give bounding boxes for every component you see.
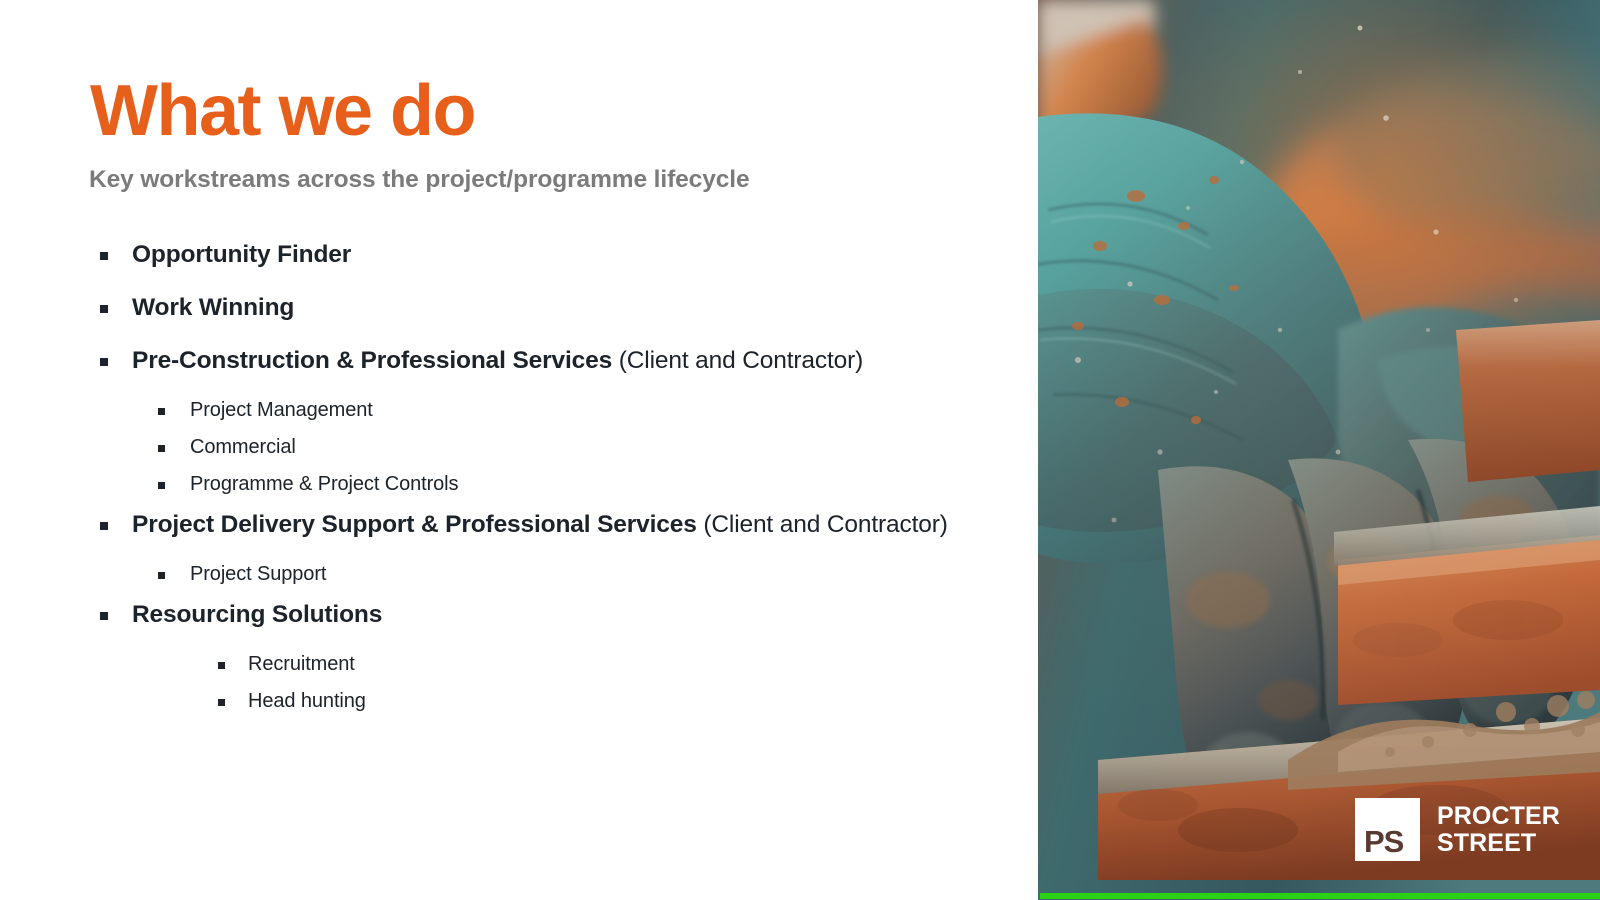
list-item: Recruitment <box>0 651 1000 678</box>
bullet-square-icon <box>100 358 108 366</box>
bullet-square-icon <box>158 572 165 579</box>
bullet-square-icon <box>218 662 225 669</box>
workstream-list: Opportunity FinderWork WinningPre-Constr… <box>0 238 1000 725</box>
list-item: Project Delivery Support & Professional … <box>0 508 960 544</box>
list-item-label: Work Winning <box>132 294 294 321</box>
bullet-square-icon <box>158 408 165 415</box>
list-item: Head hunting <box>0 688 1000 715</box>
bullet-square-icon <box>100 252 108 260</box>
accent-bar <box>1040 893 1600 899</box>
list-item-label: Resourcing Solutions <box>132 601 382 628</box>
list-item: Commercial <box>0 434 1000 461</box>
slide-content: What we do Key workstreams across the pr… <box>0 0 1038 900</box>
bullet-square-icon <box>100 305 108 313</box>
list-item: Work Winning <box>0 291 960 327</box>
logo-monogram: PS <box>1355 798 1420 861</box>
list-item-label: Project Support <box>190 563 326 585</box>
list-item: Resourcing Solutions <box>0 598 960 634</box>
list-item-label: Programme & Project Controls <box>190 473 458 495</box>
page-subtitle: Key workstreams across the project/progr… <box>89 165 749 194</box>
list-item: Project Support <box>0 561 1000 588</box>
list-item-qualifier: (Client and Contractor) <box>612 347 863 374</box>
bullet-square-icon <box>100 612 108 620</box>
list-item-label: Project Management <box>190 399 373 421</box>
logo-wordmark-line2: STREET <box>1437 830 1560 857</box>
list-item-qualifier: (Client and Contractor) <box>697 511 948 538</box>
bullet-square-icon <box>218 699 225 706</box>
list-item: Pre-Construction & Professional Services… <box>0 344 960 380</box>
bullet-square-icon <box>158 445 165 452</box>
slide: What we do Key workstreams across the pr… <box>0 0 1600 900</box>
bullet-square-icon <box>158 482 165 489</box>
list-item-label: Opportunity Finder <box>132 241 351 268</box>
logo-wordmark: PROCTER STREET <box>1437 803 1560 857</box>
list-item: Programme & Project Controls <box>0 471 1000 498</box>
list-item-label: Recruitment <box>248 653 355 675</box>
logo-wordmark-line1: PROCTER <box>1437 803 1560 830</box>
list-item-label: Project Delivery Support & Professional … <box>132 511 697 538</box>
bullet-square-icon <box>100 522 108 530</box>
construction-photo <box>1038 0 1600 900</box>
list-item-label: Head hunting <box>248 690 366 712</box>
list-item-label: Commercial <box>190 436 296 458</box>
list-item: Opportunity Finder <box>0 238 960 274</box>
page-title: What we do <box>90 75 475 147</box>
list-item-label: Pre-Construction & Professional Services <box>132 347 612 374</box>
logo: PS PROCTER STREET <box>1355 798 1560 861</box>
list-item: Project Management <box>0 397 1000 424</box>
logo-monogram-text: PS <box>1355 826 1403 861</box>
